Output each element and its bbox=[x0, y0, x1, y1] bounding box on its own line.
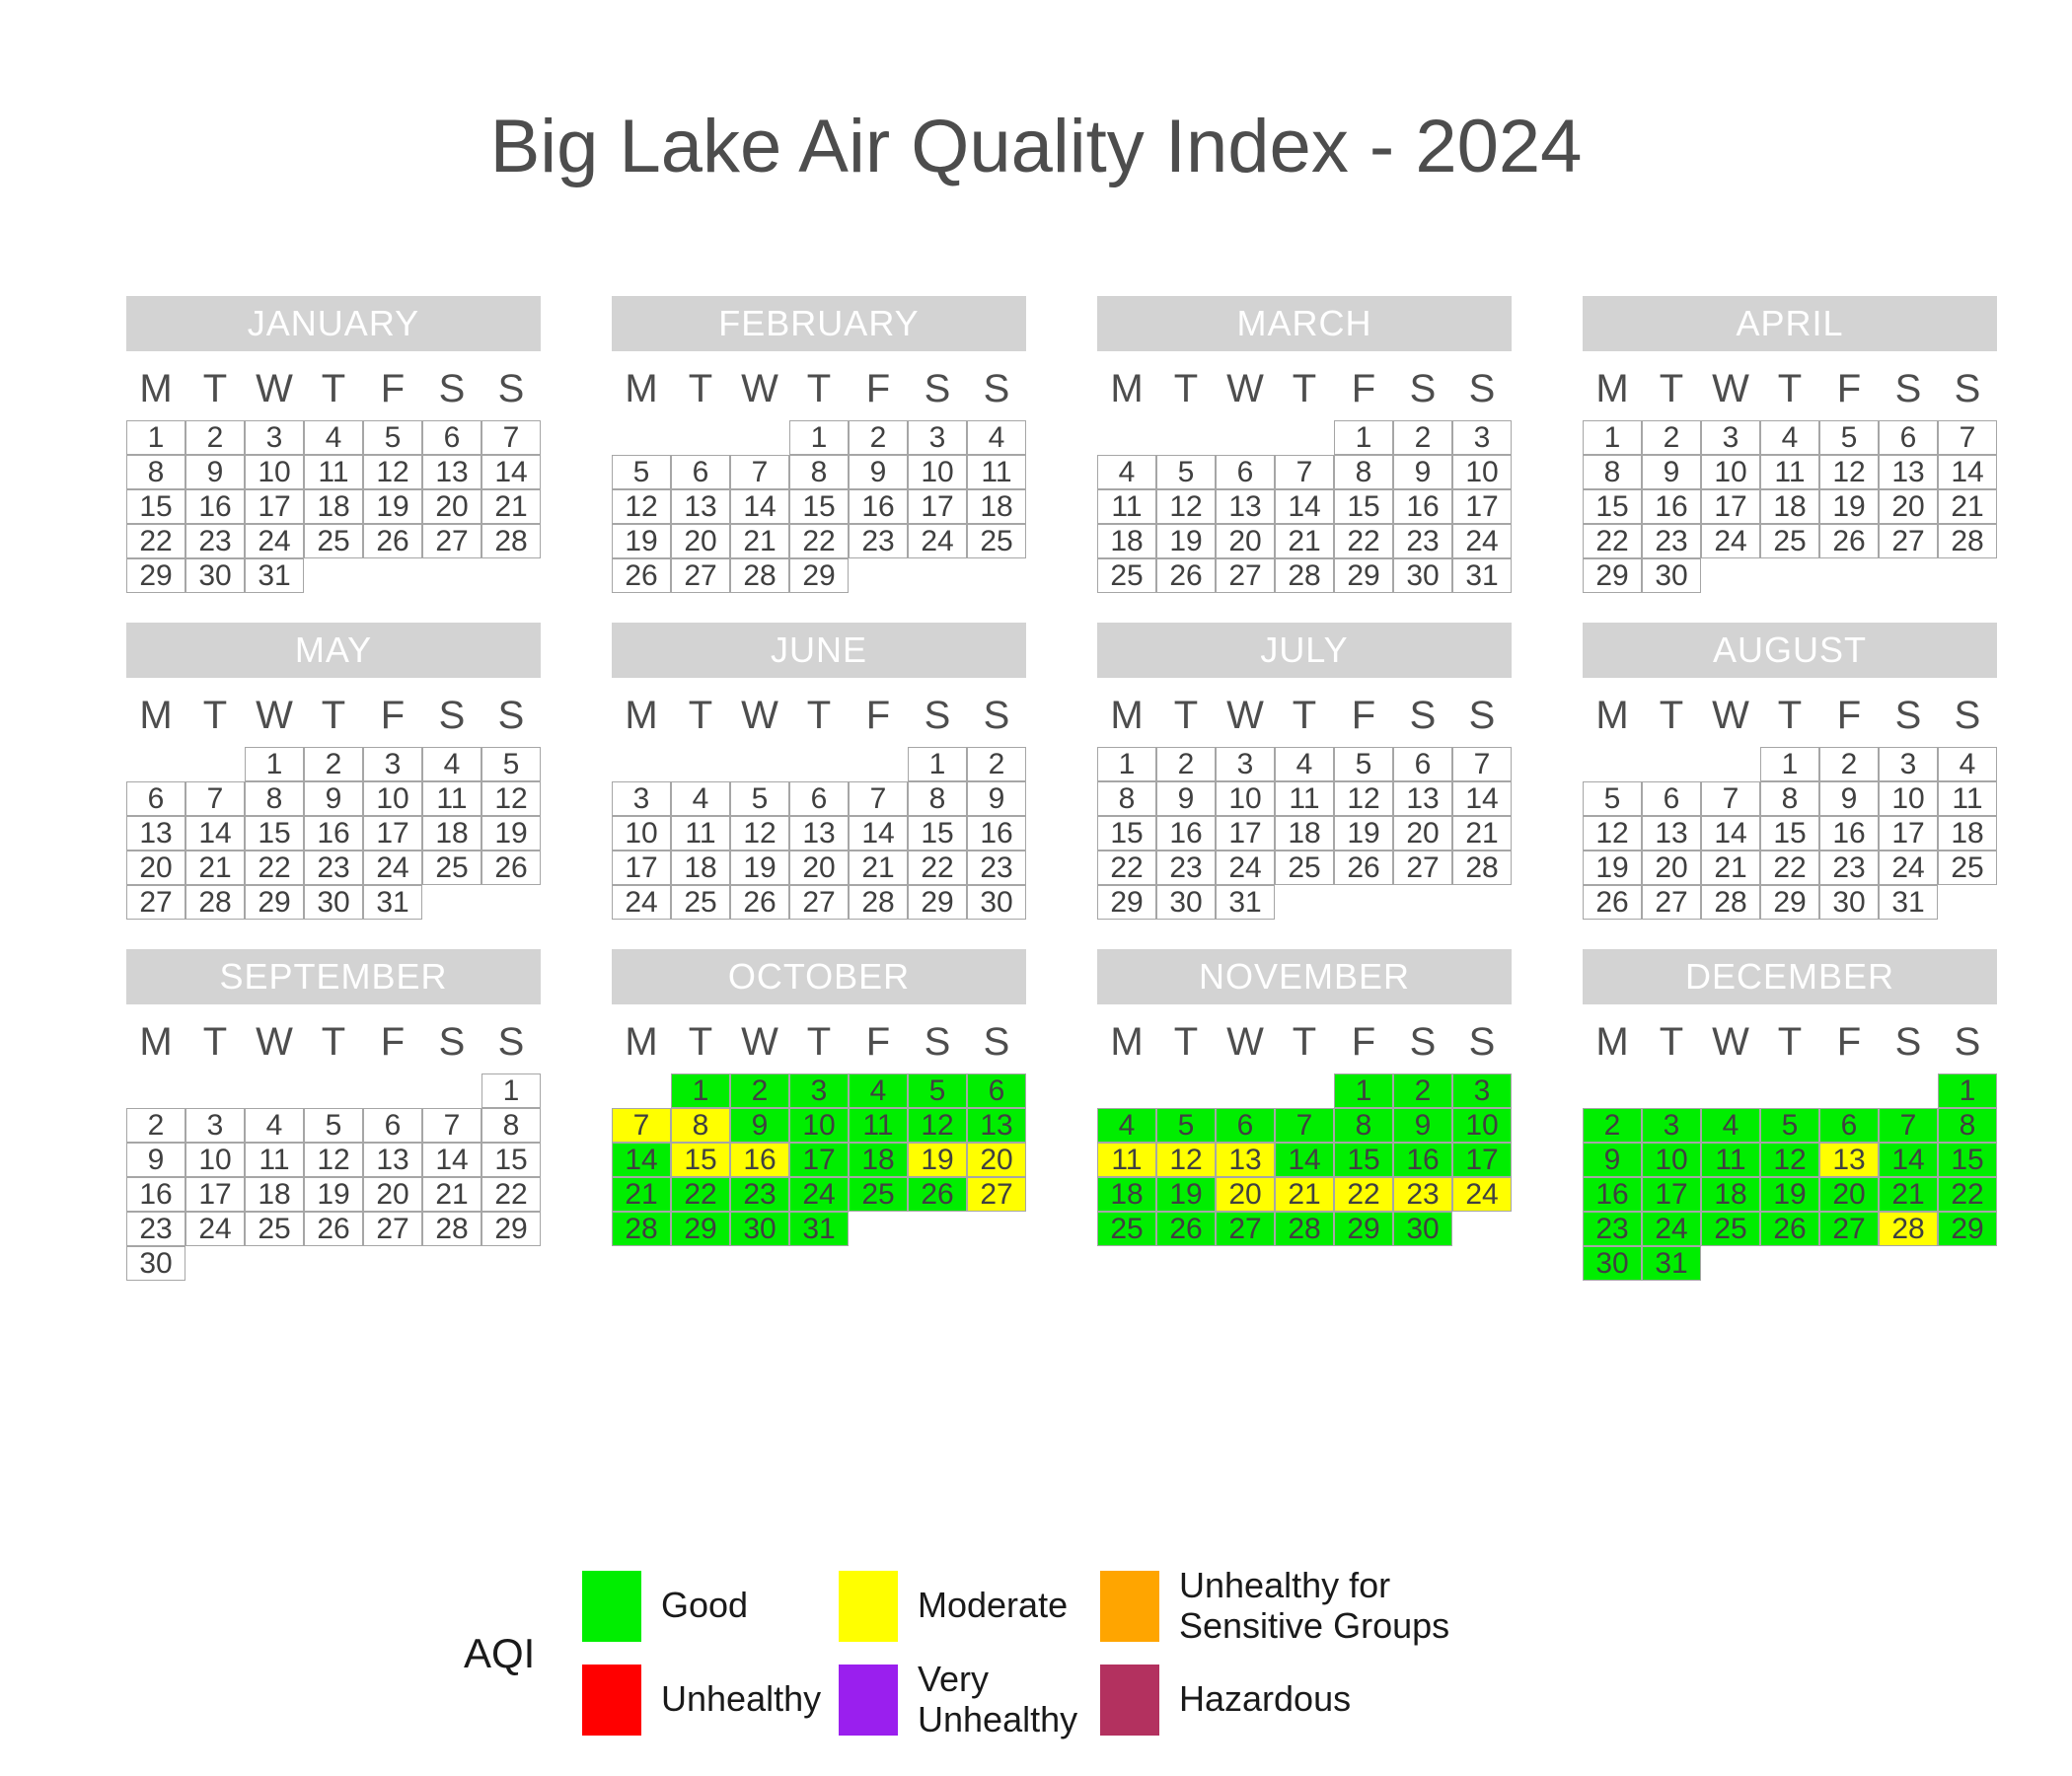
day-cell[interactable]: 20 bbox=[422, 489, 481, 524]
day-cell[interactable]: 8 bbox=[1583, 455, 1642, 489]
day-cell[interactable]: 22 bbox=[126, 524, 185, 558]
day-cell[interactable]: 1 bbox=[1097, 747, 1156, 781]
day-cell[interactable]: 27 bbox=[1216, 558, 1275, 593]
day-cell[interactable]: 3 bbox=[1642, 1108, 1701, 1143]
day-cell[interactable]: 21 bbox=[1938, 489, 1997, 524]
day-cell[interactable]: 13 bbox=[671, 489, 730, 524]
day-cell[interactable]: 24 bbox=[1452, 524, 1512, 558]
day-cell[interactable]: 14 bbox=[730, 489, 789, 524]
day-cell[interactable]: 30 bbox=[185, 558, 245, 593]
day-cell[interactable]: 23 bbox=[1393, 1177, 1452, 1212]
day-cell[interactable]: 1 bbox=[789, 420, 849, 455]
day-cell[interactable]: 9 bbox=[304, 781, 363, 816]
day-cell[interactable]: 24 bbox=[612, 885, 671, 920]
day-cell[interactable]: 23 bbox=[185, 524, 245, 558]
day-cell[interactable]: 13 bbox=[1393, 781, 1452, 816]
day-cell[interactable]: 19 bbox=[304, 1177, 363, 1212]
day-cell[interactable]: 8 bbox=[1334, 1108, 1393, 1143]
day-cell[interactable]: 25 bbox=[1097, 558, 1156, 593]
day-cell[interactable]: 22 bbox=[789, 524, 849, 558]
day-cell[interactable]: 19 bbox=[1819, 489, 1879, 524]
day-cell[interactable]: 29 bbox=[789, 558, 849, 593]
day-cell[interactable]: 25 bbox=[1760, 524, 1819, 558]
day-cell[interactable]: 1 bbox=[245, 747, 304, 781]
day-cell[interactable]: 28 bbox=[481, 524, 541, 558]
day-cell[interactable]: 24 bbox=[1452, 1177, 1512, 1212]
day-cell[interactable]: 16 bbox=[1583, 1177, 1642, 1212]
day-cell[interactable]: 13 bbox=[789, 816, 849, 851]
day-cell[interactable]: 11 bbox=[849, 1108, 908, 1143]
day-cell[interactable]: 6 bbox=[1642, 781, 1701, 816]
day-cell[interactable]: 29 bbox=[1334, 1212, 1393, 1246]
day-cell[interactable]: 1 bbox=[1334, 420, 1393, 455]
day-cell[interactable]: 28 bbox=[1452, 851, 1512, 885]
day-cell[interactable]: 27 bbox=[422, 524, 481, 558]
day-cell[interactable]: 4 bbox=[967, 420, 1026, 455]
day-cell[interactable]: 4 bbox=[422, 747, 481, 781]
day-cell[interactable]: 3 bbox=[1701, 420, 1760, 455]
day-cell[interactable]: 19 bbox=[1334, 816, 1393, 851]
day-cell[interactable]: 13 bbox=[363, 1143, 422, 1177]
day-cell[interactable]: 20 bbox=[1819, 1177, 1879, 1212]
day-cell[interactable]: 12 bbox=[363, 455, 422, 489]
day-cell[interactable]: 23 bbox=[1156, 851, 1216, 885]
day-cell[interactable]: 21 bbox=[1879, 1177, 1938, 1212]
day-cell[interactable]: 31 bbox=[245, 558, 304, 593]
day-cell[interactable]: 19 bbox=[730, 851, 789, 885]
day-cell[interactable]: 16 bbox=[730, 1143, 789, 1177]
day-cell[interactable]: 3 bbox=[1216, 747, 1275, 781]
day-cell[interactable]: 31 bbox=[1879, 885, 1938, 920]
day-cell[interactable]: 29 bbox=[671, 1212, 730, 1246]
day-cell[interactable]: 25 bbox=[849, 1177, 908, 1212]
day-cell[interactable]: 17 bbox=[245, 489, 304, 524]
day-cell[interactable]: 12 bbox=[908, 1108, 967, 1143]
day-cell[interactable]: 15 bbox=[1334, 489, 1393, 524]
day-cell[interactable]: 29 bbox=[245, 885, 304, 920]
day-cell[interactable]: 12 bbox=[1583, 816, 1642, 851]
day-cell[interactable]: 20 bbox=[671, 524, 730, 558]
day-cell[interactable]: 6 bbox=[967, 1073, 1026, 1108]
day-cell[interactable]: 6 bbox=[422, 420, 481, 455]
day-cell[interactable]: 7 bbox=[1452, 747, 1512, 781]
day-cell[interactable]: 29 bbox=[1938, 1212, 1997, 1246]
day-cell[interactable]: 16 bbox=[1642, 489, 1701, 524]
day-cell[interactable]: 23 bbox=[1583, 1212, 1642, 1246]
day-cell[interactable]: 14 bbox=[849, 816, 908, 851]
day-cell[interactable]: 20 bbox=[126, 851, 185, 885]
day-cell[interactable]: 27 bbox=[967, 1177, 1026, 1212]
day-cell[interactable]: 26 bbox=[363, 524, 422, 558]
day-cell[interactable]: 30 bbox=[304, 885, 363, 920]
day-cell[interactable]: 20 bbox=[1642, 851, 1701, 885]
day-cell[interactable]: 19 bbox=[908, 1143, 967, 1177]
day-cell[interactable]: 24 bbox=[908, 524, 967, 558]
day-cell[interactable]: 27 bbox=[1393, 851, 1452, 885]
day-cell[interactable]: 3 bbox=[1879, 747, 1938, 781]
day-cell[interactable]: 7 bbox=[849, 781, 908, 816]
day-cell[interactable]: 30 bbox=[1393, 558, 1452, 593]
day-cell[interactable]: 30 bbox=[1583, 1246, 1642, 1281]
day-cell[interactable]: 18 bbox=[1701, 1177, 1760, 1212]
day-cell[interactable]: 3 bbox=[1452, 1073, 1512, 1108]
day-cell[interactable]: 10 bbox=[245, 455, 304, 489]
day-cell[interactable]: 14 bbox=[1938, 455, 1997, 489]
day-cell[interactable]: 21 bbox=[1701, 851, 1760, 885]
day-cell[interactable]: 16 bbox=[1393, 1143, 1452, 1177]
day-cell[interactable]: 20 bbox=[1216, 524, 1275, 558]
day-cell[interactable]: 6 bbox=[671, 455, 730, 489]
day-cell[interactable]: 4 bbox=[1097, 1108, 1156, 1143]
day-cell[interactable]: 17 bbox=[185, 1177, 245, 1212]
day-cell[interactable]: 18 bbox=[1097, 524, 1156, 558]
day-cell[interactable]: 6 bbox=[1393, 747, 1452, 781]
day-cell[interactable]: 13 bbox=[967, 1108, 1026, 1143]
day-cell[interactable]: 28 bbox=[185, 885, 245, 920]
day-cell[interactable]: 23 bbox=[1819, 851, 1879, 885]
day-cell[interactable]: 25 bbox=[671, 885, 730, 920]
day-cell[interactable]: 9 bbox=[1393, 1108, 1452, 1143]
day-cell[interactable]: 14 bbox=[481, 455, 541, 489]
day-cell[interactable]: 1 bbox=[1583, 420, 1642, 455]
day-cell[interactable]: 12 bbox=[1819, 455, 1879, 489]
day-cell[interactable]: 5 bbox=[363, 420, 422, 455]
day-cell[interactable]: 1 bbox=[1938, 1073, 1997, 1108]
day-cell[interactable]: 29 bbox=[908, 885, 967, 920]
day-cell[interactable]: 11 bbox=[1701, 1143, 1760, 1177]
day-cell[interactable]: 28 bbox=[1275, 558, 1334, 593]
day-cell[interactable]: 6 bbox=[1819, 1108, 1879, 1143]
day-cell[interactable]: 26 bbox=[612, 558, 671, 593]
day-cell[interactable]: 28 bbox=[612, 1212, 671, 1246]
day-cell[interactable]: 10 bbox=[1452, 455, 1512, 489]
day-cell[interactable]: 9 bbox=[126, 1143, 185, 1177]
day-cell[interactable]: 15 bbox=[908, 816, 967, 851]
day-cell[interactable]: 12 bbox=[1156, 489, 1216, 524]
day-cell[interactable]: 27 bbox=[1879, 524, 1938, 558]
day-cell[interactable]: 26 bbox=[730, 885, 789, 920]
day-cell[interactable]: 2 bbox=[126, 1108, 185, 1143]
day-cell[interactable]: 3 bbox=[245, 420, 304, 455]
day-cell[interactable]: 24 bbox=[1642, 1212, 1701, 1246]
day-cell[interactable]: 2 bbox=[1393, 420, 1452, 455]
day-cell[interactable]: 4 bbox=[671, 781, 730, 816]
day-cell[interactable]: 3 bbox=[1452, 420, 1512, 455]
day-cell[interactable]: 14 bbox=[422, 1143, 481, 1177]
day-cell[interactable]: 13 bbox=[1879, 455, 1938, 489]
day-cell[interactable]: 16 bbox=[1393, 489, 1452, 524]
day-cell[interactable]: 10 bbox=[1701, 455, 1760, 489]
day-cell[interactable]: 31 bbox=[1452, 558, 1512, 593]
day-cell[interactable]: 15 bbox=[671, 1143, 730, 1177]
day-cell[interactable]: 22 bbox=[1583, 524, 1642, 558]
day-cell[interactable]: 23 bbox=[849, 524, 908, 558]
day-cell[interactable]: 24 bbox=[789, 1177, 849, 1212]
day-cell[interactable]: 25 bbox=[1275, 851, 1334, 885]
day-cell[interactable]: 15 bbox=[1334, 1143, 1393, 1177]
day-cell[interactable]: 13 bbox=[1216, 489, 1275, 524]
day-cell[interactable]: 5 bbox=[304, 1108, 363, 1143]
day-cell[interactable]: 17 bbox=[908, 489, 967, 524]
day-cell[interactable]: 28 bbox=[422, 1212, 481, 1246]
day-cell[interactable]: 20 bbox=[1393, 816, 1452, 851]
day-cell[interactable]: 11 bbox=[1938, 781, 1997, 816]
day-cell[interactable]: 8 bbox=[908, 781, 967, 816]
day-cell[interactable]: 9 bbox=[849, 455, 908, 489]
day-cell[interactable]: 10 bbox=[1642, 1143, 1701, 1177]
day-cell[interactable]: 18 bbox=[967, 489, 1026, 524]
day-cell[interactable]: 29 bbox=[481, 1212, 541, 1246]
day-cell[interactable]: 6 bbox=[789, 781, 849, 816]
day-cell[interactable]: 2 bbox=[1819, 747, 1879, 781]
day-cell[interactable]: 10 bbox=[1452, 1108, 1512, 1143]
day-cell[interactable]: 16 bbox=[304, 816, 363, 851]
day-cell[interactable]: 15 bbox=[1583, 489, 1642, 524]
day-cell[interactable]: 25 bbox=[1701, 1212, 1760, 1246]
day-cell[interactable]: 11 bbox=[304, 455, 363, 489]
day-cell[interactable]: 10 bbox=[789, 1108, 849, 1143]
day-cell[interactable]: 7 bbox=[422, 1108, 481, 1143]
day-cell[interactable]: 30 bbox=[730, 1212, 789, 1246]
day-cell[interactable]: 17 bbox=[1642, 1177, 1701, 1212]
day-cell[interactable]: 25 bbox=[1097, 1212, 1156, 1246]
day-cell[interactable]: 23 bbox=[304, 851, 363, 885]
day-cell[interactable]: 26 bbox=[1156, 1212, 1216, 1246]
day-cell[interactable]: 8 bbox=[1097, 781, 1156, 816]
day-cell[interactable]: 18 bbox=[245, 1177, 304, 1212]
day-cell[interactable]: 15 bbox=[126, 489, 185, 524]
day-cell[interactable]: 22 bbox=[1334, 1177, 1393, 1212]
day-cell[interactable]: 3 bbox=[612, 781, 671, 816]
day-cell[interactable]: 30 bbox=[1156, 885, 1216, 920]
day-cell[interactable]: 5 bbox=[1334, 747, 1393, 781]
day-cell[interactable]: 16 bbox=[1156, 816, 1216, 851]
day-cell[interactable]: 21 bbox=[1275, 524, 1334, 558]
day-cell[interactable]: 10 bbox=[612, 816, 671, 851]
day-cell[interactable]: 26 bbox=[481, 851, 541, 885]
day-cell[interactable]: 19 bbox=[1156, 1177, 1216, 1212]
day-cell[interactable]: 29 bbox=[1583, 558, 1642, 593]
day-cell[interactable]: 19 bbox=[612, 524, 671, 558]
day-cell[interactable]: 17 bbox=[1452, 489, 1512, 524]
day-cell[interactable]: 27 bbox=[789, 885, 849, 920]
day-cell[interactable]: 1 bbox=[1760, 747, 1819, 781]
day-cell[interactable]: 22 bbox=[1760, 851, 1819, 885]
day-cell[interactable]: 2 bbox=[304, 747, 363, 781]
day-cell[interactable]: 29 bbox=[1760, 885, 1819, 920]
day-cell[interactable]: 28 bbox=[1275, 1212, 1334, 1246]
day-cell[interactable]: 5 bbox=[1583, 781, 1642, 816]
day-cell[interactable]: 9 bbox=[1819, 781, 1879, 816]
day-cell[interactable]: 19 bbox=[1760, 1177, 1819, 1212]
day-cell[interactable]: 15 bbox=[1097, 816, 1156, 851]
day-cell[interactable]: 24 bbox=[363, 851, 422, 885]
day-cell[interactable]: 18 bbox=[304, 489, 363, 524]
day-cell[interactable]: 18 bbox=[671, 851, 730, 885]
day-cell[interactable]: 7 bbox=[1275, 455, 1334, 489]
day-cell[interactable]: 24 bbox=[1216, 851, 1275, 885]
day-cell[interactable]: 8 bbox=[671, 1108, 730, 1143]
day-cell[interactable]: 20 bbox=[1879, 489, 1938, 524]
day-cell[interactable]: 13 bbox=[126, 816, 185, 851]
day-cell[interactable]: 22 bbox=[245, 851, 304, 885]
day-cell[interactable]: 1 bbox=[671, 1073, 730, 1108]
day-cell[interactable]: 7 bbox=[1879, 1108, 1938, 1143]
day-cell[interactable]: 22 bbox=[1097, 851, 1156, 885]
day-cell[interactable]: 8 bbox=[245, 781, 304, 816]
day-cell[interactable]: 31 bbox=[789, 1212, 849, 1246]
day-cell[interactable]: 27 bbox=[1216, 1212, 1275, 1246]
day-cell[interactable]: 25 bbox=[245, 1212, 304, 1246]
day-cell[interactable]: 5 bbox=[1760, 1108, 1819, 1143]
day-cell[interactable]: 9 bbox=[1156, 781, 1216, 816]
day-cell[interactable]: 20 bbox=[363, 1177, 422, 1212]
day-cell[interactable]: 21 bbox=[1275, 1177, 1334, 1212]
day-cell[interactable]: 4 bbox=[1701, 1108, 1760, 1143]
day-cell[interactable]: 6 bbox=[1216, 455, 1275, 489]
day-cell[interactable]: 3 bbox=[363, 747, 422, 781]
day-cell[interactable]: 14 bbox=[1879, 1143, 1938, 1177]
day-cell[interactable]: 18 bbox=[849, 1143, 908, 1177]
day-cell[interactable]: 27 bbox=[671, 558, 730, 593]
day-cell[interactable]: 4 bbox=[304, 420, 363, 455]
day-cell[interactable]: 16 bbox=[185, 489, 245, 524]
day-cell[interactable]: 12 bbox=[1156, 1143, 1216, 1177]
day-cell[interactable]: 23 bbox=[1393, 524, 1452, 558]
day-cell[interactable]: 21 bbox=[730, 524, 789, 558]
day-cell[interactable]: 9 bbox=[1583, 1143, 1642, 1177]
day-cell[interactable]: 22 bbox=[1938, 1177, 1997, 1212]
day-cell[interactable]: 25 bbox=[1938, 851, 1997, 885]
day-cell[interactable]: 28 bbox=[849, 885, 908, 920]
day-cell[interactable]: 22 bbox=[671, 1177, 730, 1212]
day-cell[interactable]: 16 bbox=[967, 816, 1026, 851]
day-cell[interactable]: 17 bbox=[612, 851, 671, 885]
day-cell[interactable]: 4 bbox=[245, 1108, 304, 1143]
day-cell[interactable]: 10 bbox=[908, 455, 967, 489]
day-cell[interactable]: 16 bbox=[849, 489, 908, 524]
day-cell[interactable]: 5 bbox=[1156, 455, 1216, 489]
day-cell[interactable]: 2 bbox=[730, 1073, 789, 1108]
day-cell[interactable]: 10 bbox=[363, 781, 422, 816]
day-cell[interactable]: 23 bbox=[126, 1212, 185, 1246]
day-cell[interactable]: 30 bbox=[126, 1246, 185, 1281]
day-cell[interactable]: 1 bbox=[481, 1073, 541, 1108]
day-cell[interactable]: 18 bbox=[422, 816, 481, 851]
day-cell[interactable]: 15 bbox=[481, 1143, 541, 1177]
day-cell[interactable]: 28 bbox=[1879, 1212, 1938, 1246]
day-cell[interactable]: 18 bbox=[1275, 816, 1334, 851]
day-cell[interactable]: 27 bbox=[363, 1212, 422, 1246]
day-cell[interactable]: 17 bbox=[363, 816, 422, 851]
day-cell[interactable]: 10 bbox=[185, 1143, 245, 1177]
day-cell[interactable]: 26 bbox=[304, 1212, 363, 1246]
day-cell[interactable]: 16 bbox=[126, 1177, 185, 1212]
day-cell[interactable]: 12 bbox=[304, 1143, 363, 1177]
day-cell[interactable]: 12 bbox=[612, 489, 671, 524]
day-cell[interactable]: 10 bbox=[1216, 781, 1275, 816]
day-cell[interactable]: 19 bbox=[481, 816, 541, 851]
day-cell[interactable]: 12 bbox=[1334, 781, 1393, 816]
day-cell[interactable]: 19 bbox=[363, 489, 422, 524]
day-cell[interactable]: 29 bbox=[126, 558, 185, 593]
day-cell[interactable]: 28 bbox=[730, 558, 789, 593]
day-cell[interactable]: 11 bbox=[1097, 489, 1156, 524]
day-cell[interactable]: 9 bbox=[1642, 455, 1701, 489]
day-cell[interactable]: 21 bbox=[612, 1177, 671, 1212]
day-cell[interactable]: 25 bbox=[967, 524, 1026, 558]
day-cell[interactable]: 29 bbox=[1097, 885, 1156, 920]
day-cell[interactable]: 9 bbox=[967, 781, 1026, 816]
day-cell[interactable]: 2 bbox=[185, 420, 245, 455]
day-cell[interactable]: 11 bbox=[967, 455, 1026, 489]
day-cell[interactable]: 23 bbox=[1642, 524, 1701, 558]
day-cell[interactable]: 5 bbox=[481, 747, 541, 781]
day-cell[interactable]: 22 bbox=[908, 851, 967, 885]
day-cell[interactable]: 26 bbox=[1760, 1212, 1819, 1246]
day-cell[interactable]: 17 bbox=[1701, 489, 1760, 524]
day-cell[interactable]: 13 bbox=[422, 455, 481, 489]
day-cell[interactable]: 14 bbox=[1452, 781, 1512, 816]
day-cell[interactable]: 28 bbox=[1701, 885, 1760, 920]
day-cell[interactable]: 15 bbox=[1938, 1143, 1997, 1177]
day-cell[interactable]: 4 bbox=[1938, 747, 1997, 781]
day-cell[interactable]: 9 bbox=[185, 455, 245, 489]
day-cell[interactable]: 9 bbox=[1393, 455, 1452, 489]
day-cell[interactable]: 3 bbox=[789, 1073, 849, 1108]
day-cell[interactable]: 25 bbox=[304, 524, 363, 558]
day-cell[interactable]: 3 bbox=[908, 420, 967, 455]
day-cell[interactable]: 14 bbox=[185, 816, 245, 851]
day-cell[interactable]: 31 bbox=[363, 885, 422, 920]
day-cell[interactable]: 2 bbox=[967, 747, 1026, 781]
day-cell[interactable]: 21 bbox=[422, 1177, 481, 1212]
day-cell[interactable]: 8 bbox=[789, 455, 849, 489]
day-cell[interactable]: 24 bbox=[1701, 524, 1760, 558]
day-cell[interactable]: 30 bbox=[1642, 558, 1701, 593]
day-cell[interactable]: 14 bbox=[1275, 489, 1334, 524]
day-cell[interactable]: 26 bbox=[1334, 851, 1393, 885]
day-cell[interactable]: 4 bbox=[1097, 455, 1156, 489]
day-cell[interactable]: 12 bbox=[730, 816, 789, 851]
day-cell[interactable]: 26 bbox=[908, 1177, 967, 1212]
day-cell[interactable]: 8 bbox=[1760, 781, 1819, 816]
day-cell[interactable]: 2 bbox=[1156, 747, 1216, 781]
day-cell[interactable]: 5 bbox=[730, 781, 789, 816]
day-cell[interactable]: 17 bbox=[1216, 816, 1275, 851]
day-cell[interactable]: 26 bbox=[1819, 524, 1879, 558]
day-cell[interactable]: 15 bbox=[789, 489, 849, 524]
day-cell[interactable]: 24 bbox=[1879, 851, 1938, 885]
day-cell[interactable]: 1 bbox=[1334, 1073, 1393, 1108]
day-cell[interactable]: 7 bbox=[612, 1108, 671, 1143]
day-cell[interactable]: 5 bbox=[1819, 420, 1879, 455]
day-cell[interactable]: 8 bbox=[481, 1108, 541, 1143]
day-cell[interactable]: 11 bbox=[671, 816, 730, 851]
day-cell[interactable]: 11 bbox=[422, 781, 481, 816]
day-cell[interactable]: 24 bbox=[245, 524, 304, 558]
day-cell[interactable]: 7 bbox=[730, 455, 789, 489]
day-cell[interactable]: 7 bbox=[185, 781, 245, 816]
day-cell[interactable]: 17 bbox=[1879, 816, 1938, 851]
day-cell[interactable]: 7 bbox=[1701, 781, 1760, 816]
day-cell[interactable]: 15 bbox=[245, 816, 304, 851]
day-cell[interactable]: 12 bbox=[481, 781, 541, 816]
day-cell[interactable]: 28 bbox=[1938, 524, 1997, 558]
day-cell[interactable]: 2 bbox=[1642, 420, 1701, 455]
day-cell[interactable]: 21 bbox=[849, 851, 908, 885]
day-cell[interactable]: 18 bbox=[1760, 489, 1819, 524]
